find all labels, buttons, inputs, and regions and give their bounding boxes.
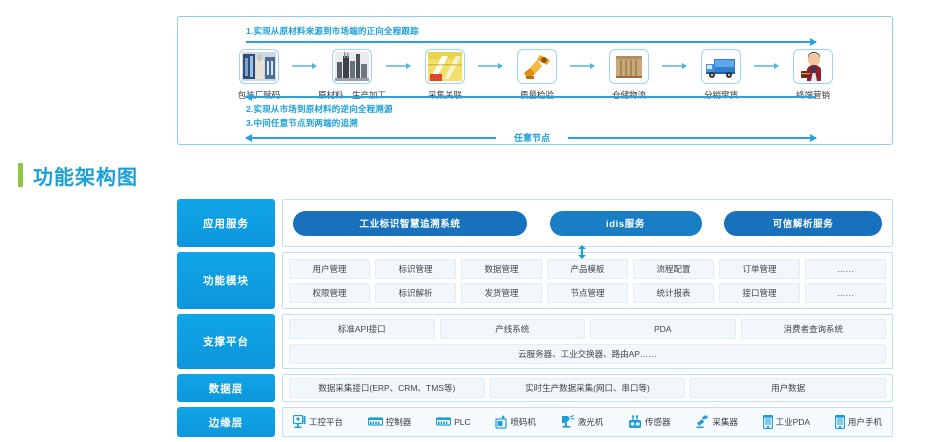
app-pill-trace-system[interactable]: 工业标识智慧追溯系统 xyxy=(293,211,527,236)
delivery-truck-icon xyxy=(701,49,741,84)
layer-label-function-modules: 功能模块 xyxy=(177,252,275,309)
edge-device-label: 采集器 xyxy=(712,416,738,428)
edge-device-collector[interactable]: 采集器 xyxy=(695,415,738,429)
module-cell[interactable]: 用户管理 xyxy=(289,259,370,279)
forward-trace-arrow xyxy=(246,41,816,43)
module-cell[interactable]: 产品模板 xyxy=(547,259,628,279)
app-pill-trusted-resolution[interactable]: 可信解析服务 xyxy=(724,211,882,236)
flow-step-label: 仓储物流 xyxy=(612,89,646,101)
layer-label-edge: 边缘层 xyxy=(177,407,275,437)
support-platform-body: 标准API接口 产线系统 PDA 消费者查询系统 云服务器、工业交换器、路由AP… xyxy=(282,314,893,369)
flow-step[interactable]: 质量检验 xyxy=(504,49,570,101)
data-cell[interactable]: 实时生产数据采集(网口、串口等) xyxy=(490,378,686,398)
section-title: 功能架构图 xyxy=(18,160,138,190)
industrial-pc-icon xyxy=(293,415,306,429)
mobile-phone-icon xyxy=(835,415,845,429)
module-cell[interactable]: 权限管理 xyxy=(289,283,370,303)
salesperson-icon xyxy=(793,49,833,84)
architecture-row-data-layer: 数据层 数据采集接口(ERP、CRM、TMS等) 实时生产数据采集(网口、串口等… xyxy=(177,374,893,402)
data-layer-body: 数据采集接口(ERP、CRM、TMS等) 实时生产数据采集(网口、串口等) 用户… xyxy=(282,374,893,402)
warehouse-boxes-icon xyxy=(609,49,649,84)
data-cell[interactable]: 数据采集接口(ERP、CRM、TMS等) xyxy=(289,378,485,398)
flow-step-label: 质量检验 xyxy=(520,89,554,101)
edge-device-inkjet-printer[interactable]: 喷码机 xyxy=(495,415,536,429)
flow-step[interactable]: 仓储物流 xyxy=(596,49,662,101)
sensor-icon xyxy=(628,415,642,429)
module-cell[interactable]: 数据管理 xyxy=(461,259,542,279)
edge-device-controller[interactable]: 控制器 xyxy=(368,416,412,428)
module-cell[interactable]: 标识管理 xyxy=(375,259,456,279)
support-row: 标准API接口 产线系统 PDA 消费者查询系统 xyxy=(289,319,886,339)
step-connector-arrow xyxy=(386,65,412,67)
factory-bottles-icon xyxy=(239,49,279,84)
module-cell-more[interactable]: …… xyxy=(805,259,886,279)
edge-device-laser-machine[interactable]: 激光机 xyxy=(561,415,604,429)
function-modules-body: 用户管理 标识管理 数据管理 产品模板 流程配置 订单管理 …… 权限管理 标识… xyxy=(282,252,893,309)
layer-label-data: 数据层 xyxy=(177,374,275,402)
plc-icon xyxy=(436,417,451,428)
module-row: 用户管理 标识管理 数据管理 产品模板 流程配置 订单管理 …… xyxy=(289,259,886,279)
collector-icon xyxy=(695,415,709,429)
layer-label-application: 应用服务 xyxy=(177,199,275,247)
module-cell[interactable]: 订单管理 xyxy=(719,259,800,279)
any-node-left-arrow xyxy=(246,137,496,139)
module-row: 权限管理 标识解析 发货管理 节点管理 统计报表 接口管理 …… xyxy=(289,283,886,303)
trace-note-anynode: 3.中间任意节点到两端的追溯 xyxy=(246,117,358,129)
step-connector-arrow xyxy=(570,65,596,67)
flow-step[interactable]: 终端营销 xyxy=(780,49,846,101)
support-cell[interactable]: 产线系统 xyxy=(440,319,586,339)
inspection-robot-icon xyxy=(517,49,557,84)
step-connector-arrow xyxy=(754,65,780,67)
controller-icon xyxy=(368,417,383,428)
edge-device-label: 工控平台 xyxy=(309,416,343,428)
page-title: 功能架构图 xyxy=(33,161,138,190)
flow-step[interactable]: 分销窜货 xyxy=(688,49,754,101)
edge-device-label: 工业PDA xyxy=(776,416,810,428)
flow-step[interactable]: 原材料、生产加工 xyxy=(318,49,386,101)
edge-device-industrial-pda[interactable]: 工业PDA xyxy=(763,415,810,429)
laser-machine-icon xyxy=(561,415,575,429)
flow-step-label: 原材料、生产加工 xyxy=(318,89,386,101)
flow-step-label: 分销窜货 xyxy=(704,89,738,101)
trace-note-forward: 1.实现从原材料来源到市场端的正向全程跟踪 xyxy=(246,25,419,37)
function-architecture-diagram: 应用服务 工业标识智慧追溯系统 idis服务 可信解析服务 功能模块 用户管理 … xyxy=(177,199,893,442)
module-cell[interactable]: 接口管理 xyxy=(719,283,800,303)
layer-label-support-platform: 支撑平台 xyxy=(177,314,275,369)
reverse-trace-arrow xyxy=(246,96,816,98)
any-node-label: 任意节点 xyxy=(500,131,564,144)
edge-device-label: 喷码机 xyxy=(510,416,536,428)
edge-device-label: 传感器 xyxy=(645,416,671,428)
edge-device-sensor[interactable]: 传感器 xyxy=(628,415,671,429)
support-row: 云服务器、工业交换器、路由AP…… xyxy=(289,344,886,364)
support-cell[interactable]: 标准API接口 xyxy=(289,319,435,339)
flow-step[interactable]: 采集关联 xyxy=(412,49,478,101)
edge-device-label: 激光机 xyxy=(578,416,604,428)
application-services-body: 工业标识智慧追溯系统 idis服务 可信解析服务 xyxy=(282,199,893,247)
bidirectional-arrow-icon xyxy=(577,245,587,259)
architecture-row-support-platform: 支撑平台 标准API接口 产线系统 PDA 消费者查询系统 云服务器、工业交换器… xyxy=(177,314,893,369)
step-connector-arrow xyxy=(662,65,688,67)
edge-device-plc[interactable]: PLC xyxy=(436,417,471,428)
flow-step[interactable]: 包装厂赋码 xyxy=(226,49,292,101)
any-node-right-arrow xyxy=(568,137,816,139)
production-plant-icon xyxy=(332,49,372,84)
inkjet-printer-icon xyxy=(495,415,507,429)
module-cell[interactable]: 发货管理 xyxy=(461,283,542,303)
traceability-flow-panel: 1.实现从原材料来源到市场端的正向全程跟踪 包装厂赋码 xyxy=(177,16,893,145)
module-cell-more[interactable]: …… xyxy=(805,283,886,303)
step-connector-arrow xyxy=(292,65,318,67)
app-pill-idis-service[interactable]: idis服务 xyxy=(550,211,702,236)
step-connector-arrow xyxy=(478,65,504,67)
edge-device-label: 控制器 xyxy=(386,416,412,428)
module-cell[interactable]: 节点管理 xyxy=(547,283,628,303)
edge-device-label: PLC xyxy=(454,417,471,427)
edge-device-industrial-pc[interactable]: 工控平台 xyxy=(293,415,343,429)
flow-step-label: 终端营销 xyxy=(796,89,830,101)
edge-layer-body: 工控平台 控制器 xyxy=(282,407,893,437)
support-cell-infrastructure[interactable]: 云服务器、工业交换器、路由AP…… xyxy=(289,344,886,364)
data-cell[interactable]: 用户数据 xyxy=(690,378,886,398)
title-accent-bar xyxy=(18,163,23,187)
edge-device-label: 用户手机 xyxy=(848,416,882,428)
architecture-row-application: 应用服务 工业标识智慧追溯系统 idis服务 可信解析服务 xyxy=(177,199,893,247)
architecture-row-function-modules: 功能模块 用户管理 标识管理 数据管理 产品模板 流程配置 订单管理 …… 权限… xyxy=(177,252,893,309)
module-cell[interactable]: 统计报表 xyxy=(633,283,714,303)
edge-device-mobile-phone[interactable]: 用户手机 xyxy=(835,415,882,429)
flow-steps: 包装厂赋码 原材料、生产加工 xyxy=(226,49,846,95)
barcode-scan-icon xyxy=(425,49,465,84)
module-cell[interactable]: 标识解析 xyxy=(375,283,456,303)
trace-note-reverse: 2.实现从市场到原材料的逆向全程溯源 xyxy=(246,103,393,115)
industrial-pda-icon xyxy=(763,415,773,429)
architecture-row-edge-layer: 边缘层 工控平台 xyxy=(177,407,893,437)
support-cell[interactable]: PDA xyxy=(590,319,736,339)
support-cell[interactable]: 消费者查询系统 xyxy=(741,319,887,339)
module-cell[interactable]: 流程配置 xyxy=(633,259,714,279)
flow-step-label: 采集关联 xyxy=(428,89,462,101)
